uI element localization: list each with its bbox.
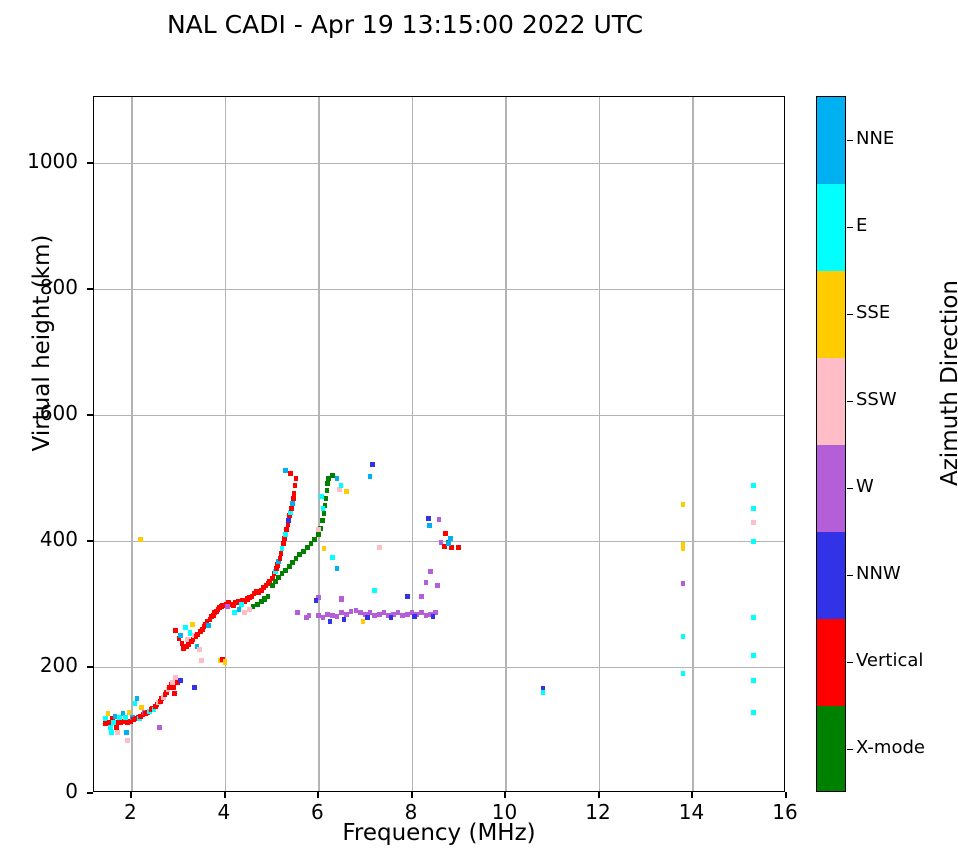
echo-point (279, 551, 284, 556)
y-axis-tick-label: 1000 (8, 149, 78, 173)
echo-point (681, 671, 686, 676)
echo-point (171, 685, 176, 690)
x-axis-tick (504, 792, 506, 798)
echo-point (681, 546, 686, 551)
colorbar-segment (817, 706, 845, 792)
echo-point (370, 462, 375, 467)
colorbar-tick (847, 140, 853, 142)
echo-point (419, 594, 424, 599)
echo-point (424, 580, 429, 585)
plot-area (93, 96, 785, 792)
echo-point (135, 696, 140, 701)
echo-point (325, 481, 330, 486)
echo-point (405, 594, 410, 599)
echo-point (751, 483, 756, 488)
echo-point (339, 483, 344, 488)
x-axis-tick (224, 792, 226, 798)
echo-point (344, 489, 349, 494)
y-axis-tick-label: 200 (8, 653, 78, 677)
colorbar-segment (817, 532, 845, 619)
page-title: NAL CADI - Apr 19 13:15:00 2022 UTC (0, 10, 810, 39)
echo-point (751, 710, 756, 715)
x-axis-tick (130, 792, 132, 798)
echo-point (284, 527, 289, 532)
echo-point (681, 581, 686, 586)
y-axis-tick (87, 666, 93, 668)
echo-point (456, 545, 461, 550)
colorbar-segment (817, 184, 845, 271)
colorbar (816, 96, 846, 792)
echo-point (446, 541, 451, 546)
x-axis-label: Frequency (MHz) (93, 820, 785, 846)
echo-point (291, 496, 296, 501)
echo-point (751, 653, 756, 658)
echo-point (342, 617, 347, 622)
colorbar-tick-label: SSW (856, 389, 897, 410)
echo-point (448, 536, 453, 541)
echo-point (321, 506, 326, 511)
echo-point (437, 517, 442, 522)
colorbar-tick-label: W (856, 476, 874, 497)
echo-point (428, 569, 433, 574)
echo-point (292, 491, 297, 496)
echo-point (330, 555, 335, 560)
echo-point (280, 546, 285, 551)
echo-point (178, 678, 183, 683)
x-axis-tick (691, 792, 693, 798)
echo-point (266, 594, 271, 599)
echo-point (320, 518, 325, 523)
echo-point (361, 619, 366, 624)
echo-point (197, 647, 202, 652)
echo-point (294, 476, 299, 481)
echo-point (322, 511, 327, 516)
echo-point (295, 610, 300, 615)
echo-point (192, 685, 197, 690)
colorbar-tick-label: Vertical (856, 650, 923, 671)
colorbar-tick (847, 749, 853, 751)
echo-point (281, 541, 286, 546)
colorbar-segment (817, 619, 845, 706)
echo-point (286, 518, 291, 523)
echo-point (223, 659, 228, 664)
echo-point (314, 598, 319, 603)
echo-point (247, 607, 252, 612)
echo-point (322, 546, 327, 551)
echo-point (751, 539, 756, 544)
echo-point (681, 634, 686, 639)
x-axis-tick (785, 792, 787, 798)
colorbar-label: Azimuth Direction (937, 233, 958, 533)
echo-point (239, 602, 244, 607)
echo-point (335, 566, 340, 571)
echo-point (289, 506, 294, 511)
echo-point (316, 527, 321, 532)
echo-point (751, 678, 756, 683)
colorbar-segment (817, 358, 845, 445)
echo-point (324, 496, 329, 501)
echo-point (190, 622, 195, 627)
echo-point (109, 730, 114, 735)
colorbar-tick-label: NNE (856, 128, 894, 149)
echo-point (312, 537, 317, 542)
y-axis-tick (87, 540, 93, 542)
echo-point (172, 691, 177, 696)
echo-point (751, 615, 756, 620)
x-axis-tick (598, 792, 600, 798)
x-axis-tick (411, 792, 413, 798)
echo-point (225, 604, 230, 609)
colorbar-tick (847, 662, 853, 664)
echo-point (427, 523, 432, 528)
echo-point (541, 690, 546, 695)
echo-point (335, 476, 340, 481)
colorbar-tick (847, 401, 853, 403)
x-axis-tick (317, 792, 319, 798)
echo-point (283, 532, 288, 537)
echo-point (365, 615, 370, 620)
echo-point (133, 701, 138, 706)
colorbar-tick-label: NNW (856, 563, 901, 584)
colorbar-tick-label: SSE (856, 302, 890, 323)
echo-point (325, 488, 330, 493)
y-axis-tick (87, 162, 93, 164)
colorbar-tick-label: E (856, 215, 867, 236)
colorbar-tick-label: X-mode (856, 737, 925, 758)
echo-point (138, 537, 143, 542)
echo-point (377, 545, 382, 550)
y-axis-tick (87, 288, 93, 290)
echo-point (328, 619, 333, 624)
echo-point (206, 623, 211, 628)
echo-point (237, 607, 242, 612)
echo-point (681, 502, 686, 507)
colorbar-tick (847, 488, 853, 490)
echo-point (412, 614, 417, 619)
y-axis-tick-label: 0 (8, 779, 78, 803)
echo-point (389, 615, 394, 620)
echo-point (290, 501, 295, 506)
echo-point (157, 725, 162, 730)
colorbar-tick (847, 314, 853, 316)
colorbar-segment (817, 445, 845, 532)
y-axis-label: Virtual height (km) (29, 203, 55, 483)
colorbar-tick (847, 227, 853, 229)
echo-point (751, 506, 756, 511)
echo-point (319, 494, 324, 499)
y-axis-tick-label: 400 (8, 527, 78, 551)
echo-point (368, 474, 373, 479)
echo-point (431, 614, 436, 619)
echo-point (316, 532, 321, 537)
echo-point (288, 471, 293, 476)
y-axis-tick (87, 792, 93, 794)
echo-scatter-layer (94, 97, 784, 791)
echo-point (293, 483, 298, 488)
echo-point (115, 730, 120, 735)
echo-point (372, 588, 377, 593)
echo-point (124, 730, 129, 735)
echo-point (283, 468, 288, 473)
colorbar-segment (817, 97, 845, 184)
y-axis-tick (87, 414, 93, 416)
echo-point (125, 738, 130, 743)
colorbar-tick (847, 575, 853, 577)
echo-point (178, 633, 183, 638)
echo-point (426, 516, 431, 521)
echo-point (435, 583, 440, 588)
echo-point (199, 658, 204, 663)
colorbar-segment (817, 271, 845, 358)
echo-point (278, 556, 283, 561)
echo-point (751, 520, 756, 525)
echo-point (307, 613, 312, 618)
echo-point (339, 596, 344, 601)
